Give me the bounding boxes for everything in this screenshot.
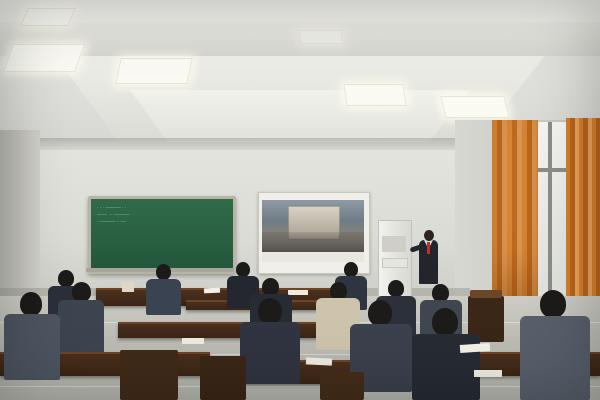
document-sheet [182, 338, 204, 344]
wooden-chair [120, 350, 178, 400]
orange-curtain-left [492, 120, 538, 305]
air-conditioner-panel [382, 258, 408, 268]
document-sheet [204, 288, 220, 294]
chair-backrest [470, 290, 502, 298]
ceiling-light-6 [299, 30, 342, 44]
wooden-chair [320, 372, 364, 400]
window-frame-vertical [548, 122, 552, 297]
desk-row-middle [118, 322, 348, 338]
ceiling-coffer-center [130, 90, 470, 142]
ceiling-light-2 [115, 58, 193, 84]
ceiling-light-1 [3, 44, 85, 72]
chalkboard-writing: · · · ——— · · —— ·· ——— · ——— ·· — [97, 205, 227, 226]
projected-foreground [262, 232, 364, 252]
ceiling-light-5 [20, 8, 76, 26]
orange-curtain-right [566, 118, 600, 318]
green-chalkboard: · · · ——— · · —— ·· ——— · ——— ·· — [88, 196, 236, 274]
air-conditioner-vent [382, 236, 406, 252]
projected-caption-strip [262, 252, 364, 262]
ceiling-light-4 [440, 96, 509, 118]
document-box [122, 282, 134, 292]
document-sheet [474, 370, 502, 377]
ceiling-light-3 [343, 84, 406, 106]
ceiling-border-outer [0, 0, 600, 22]
document-sheet [288, 290, 308, 295]
classroom-photo: · · · ——— · · —— ·· ——— · ——— ·· — [0, 0, 600, 400]
document-sheet [306, 357, 332, 365]
wooden-chair [200, 356, 246, 400]
